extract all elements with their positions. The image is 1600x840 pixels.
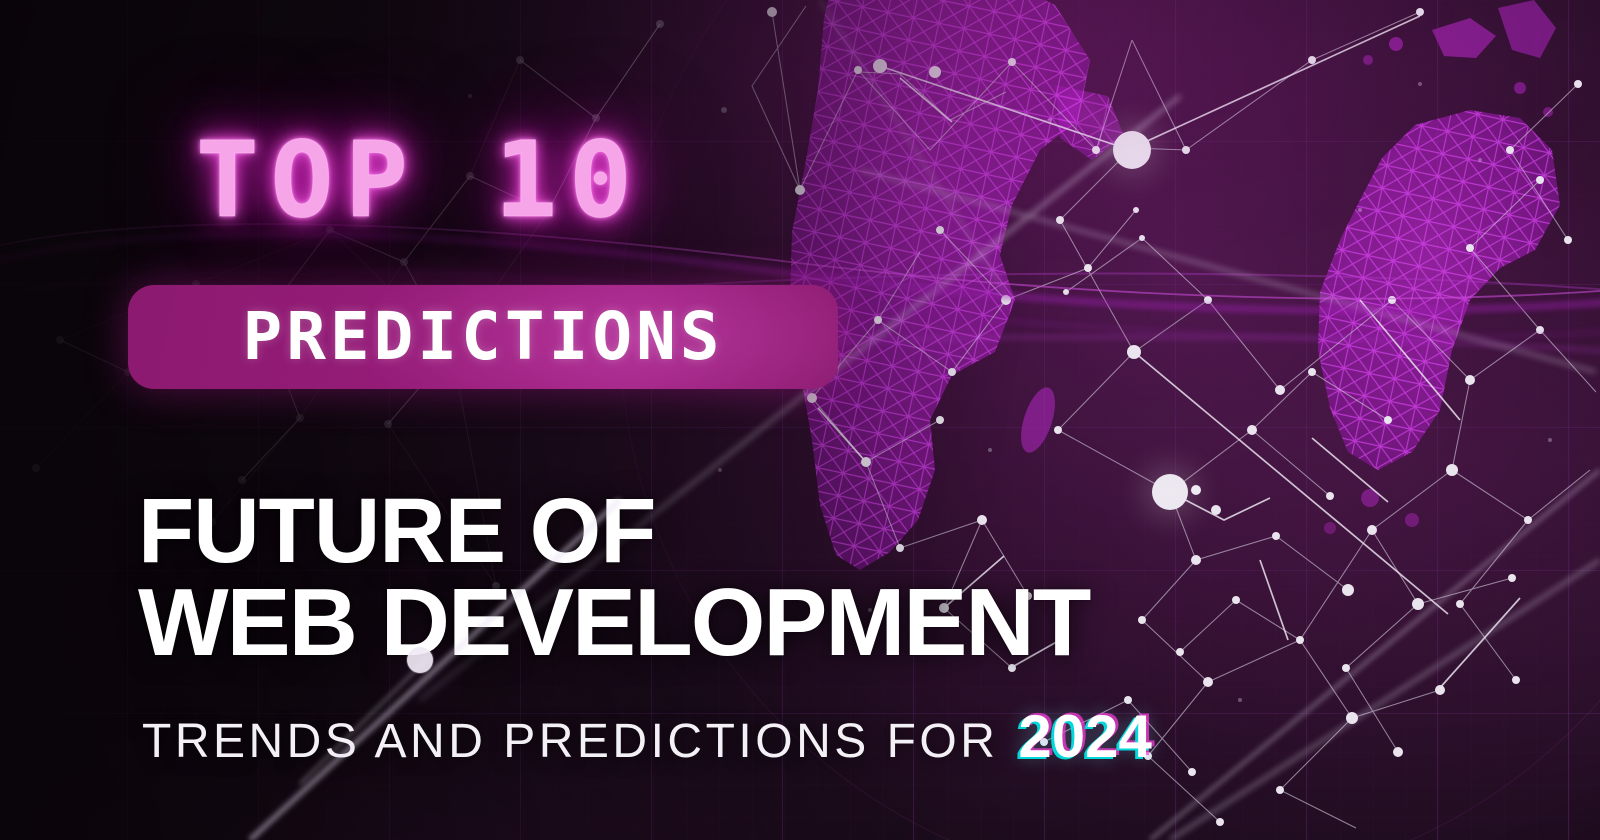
predictions-badge: PREDICTIONS	[128, 285, 838, 389]
headline-line-2: WEB DEVELOPMENT	[138, 576, 1089, 670]
subtitle-text: TRENDS AND PREDICTIONS FOR	[142, 714, 998, 769]
predictions-badge-label: PREDICTIONS	[242, 304, 723, 370]
subtitle-year: 2024	[1018, 702, 1151, 771]
poster-canvas: TOP 10 PREDICTIONS FUTURE OF WEB DEVELOP…	[0, 0, 1600, 840]
headline-line-1: FUTURE OF	[138, 486, 1089, 576]
subtitle: TRENDS AND PREDICTIONS FOR 2024	[142, 702, 1152, 771]
page-title: FUTURE OF WEB DEVELOPMENT	[138, 486, 1089, 670]
poster-content: TOP 10 PREDICTIONS FUTURE OF WEB DEVELOP…	[0, 0, 1600, 840]
kicker-top-10: TOP 10	[196, 128, 644, 232]
